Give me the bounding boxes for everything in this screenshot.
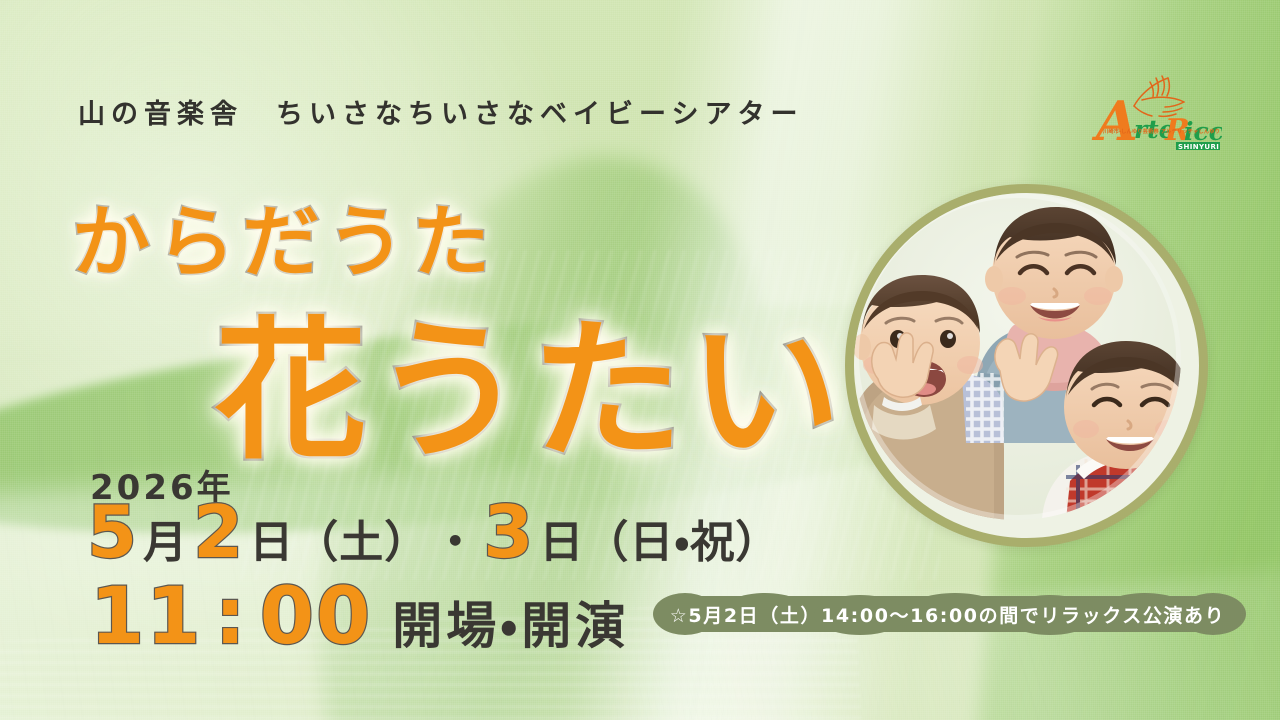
time-minute: 00 — [254, 582, 379, 652]
svg-text:SHINYURI: SHINYURI — [1178, 143, 1219, 151]
svg-text:A: A — [1091, 89, 1138, 153]
background-highlight-bottom-right — [611, 561, 1280, 720]
time-label: 開場・開演 — [378, 586, 629, 658]
babies-photo — [854, 193, 1199, 538]
series-header-text: 山の音楽舎 ちいさなちいさなベイビーシアター — [78, 92, 803, 131]
babies-photo-circle — [845, 184, 1208, 547]
date-day2-number: 3 — [480, 500, 537, 565]
event-date-line: 5 月 2 日（土） ・ 3 日（日・祝） — [84, 500, 782, 570]
relaxed-performance-banner: ☆5月2日（土）14:00〜16:00の間でリラックス公演あり — [645, 588, 1250, 640]
date-month-label: 月 — [141, 506, 190, 570]
date-day1-label: 日（土） — [247, 506, 431, 570]
poster-canvas: 山の音楽舎 ちいさなちいさなベイビーシアター A rte R — [0, 0, 1280, 720]
babies-photo-illustration — [854, 193, 1181, 520]
time-hour: 11 — [84, 582, 209, 652]
arte-ricca-logo: A rte R icca SHINYURI — [1072, 62, 1222, 154]
date-month-number: 5 — [84, 500, 141, 565]
logo-subtitle-jp: 川崎市・しんゆり芸術祭 アルテリッチャしんゆり — [1103, 128, 1220, 135]
event-time-line: 11 : 00 開場・開演 — [84, 582, 629, 658]
time-colon: : — [209, 582, 254, 652]
main-title-hanautai: 花うたい — [215, 268, 847, 488]
date-separator: ・ — [431, 506, 480, 570]
date-day2-label: 日（日・祝） — [537, 506, 782, 570]
banner-note-text: ☆5月2日（土）14:00〜16:00の間でリラックス公演あり — [645, 588, 1250, 640]
arte-ricca-logo-icon: A rte R icca SHINYURI — [1072, 62, 1222, 154]
date-day1-number: 2 — [190, 500, 247, 565]
